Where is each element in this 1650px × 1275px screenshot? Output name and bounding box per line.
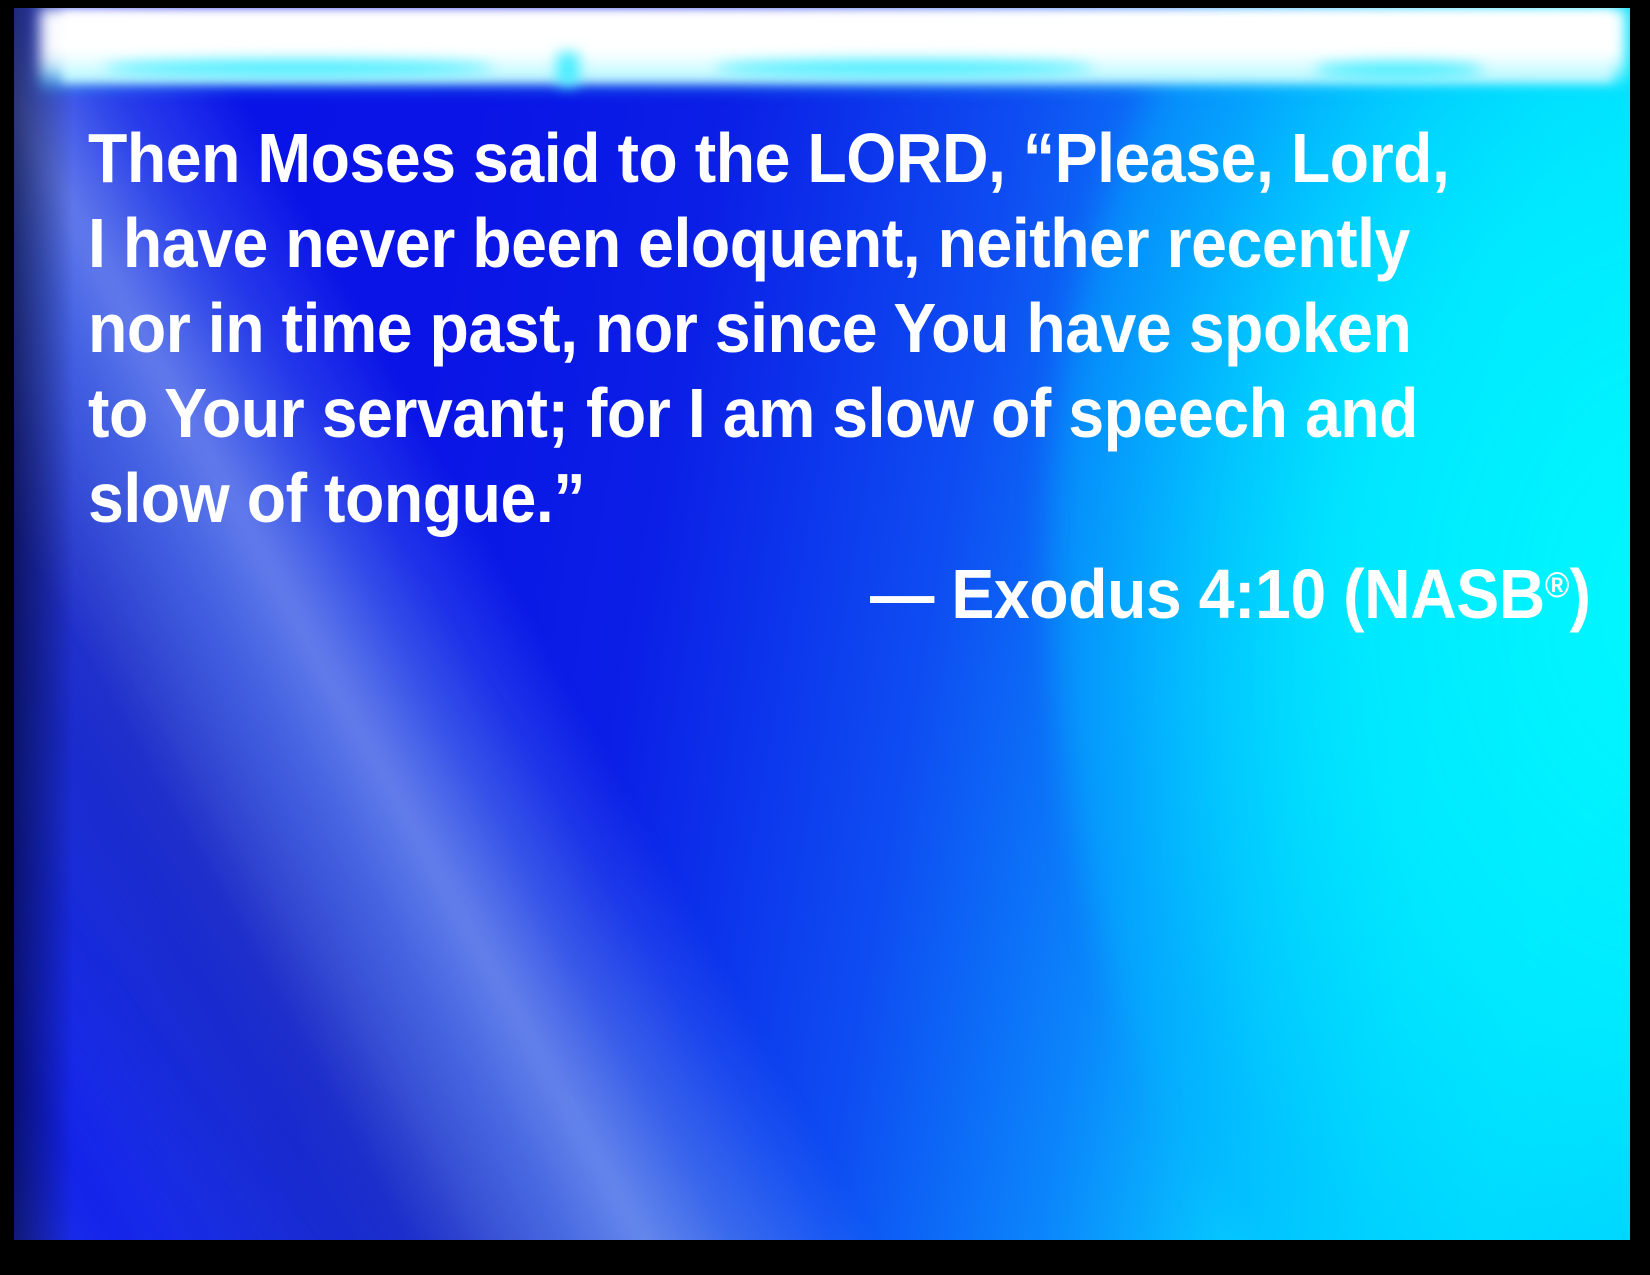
registered-trademark-icon: ® [1545, 564, 1570, 605]
attribution-suffix: ) [1569, 555, 1590, 633]
verse-attribution: — Exodus 4:10 (NASB®) [209, 541, 1596, 638]
slide-canvas: Then Moses said to the LORD, “Please, Lo… [0, 0, 1650, 1275]
verse-text: Then Moses said to the LORD, “Please, Lo… [88, 116, 1475, 541]
attribution-prefix: — Exodus 4:10 (NASB [870, 555, 1545, 633]
text-content-area: Then Moses said to the LORD, “Please, Lo… [14, 8, 1630, 638]
slide-inner: Then Moses said to the LORD, “Please, Lo… [14, 8, 1630, 1240]
